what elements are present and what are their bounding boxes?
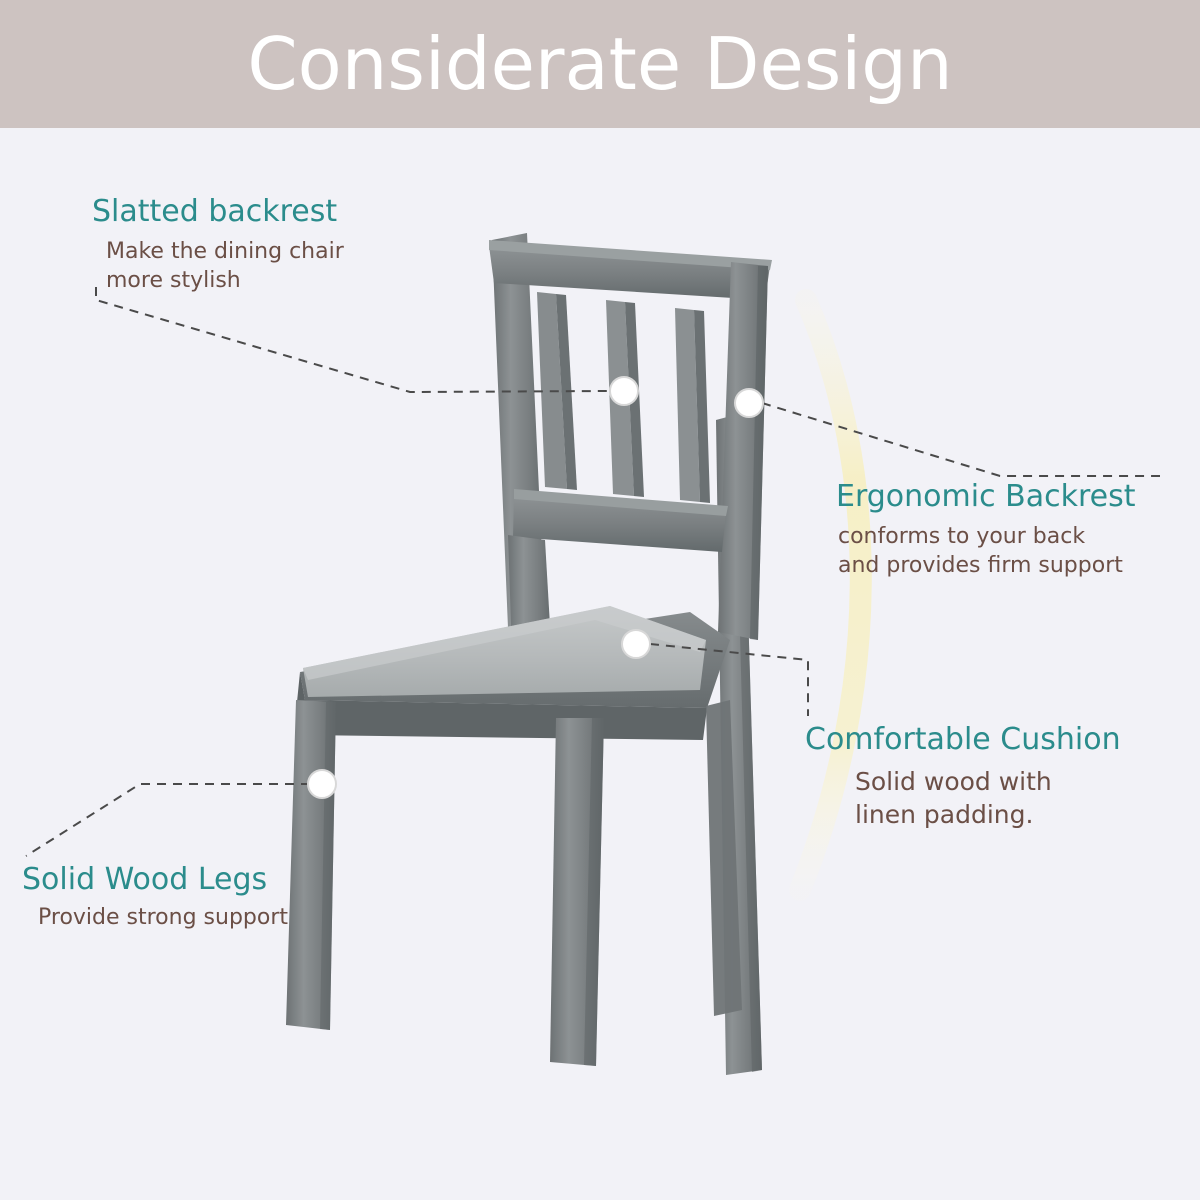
callout-body: Provide strong support [38, 903, 288, 932]
page-title: Considerate Design [0, 14, 1200, 114]
marker-slatted-backrest[interactable] [610, 377, 638, 405]
callout-body-line1: conforms to your back [838, 522, 1135, 551]
callout-body-line2: more stylish [106, 266, 344, 295]
product-illustration [0, 0, 1200, 1200]
leader-solid-wood-legs [26, 784, 310, 856]
chair-graphic [286, 233, 772, 1075]
callout-slatted-backrest: Slatted backrest Make the dining chair m… [92, 193, 344, 295]
callout-body-line2: and provides firm support [838, 551, 1135, 580]
leader-ergonomic-backrest [762, 403, 1160, 476]
callout-body-line2: linen padding. [855, 798, 1121, 831]
header-banner: Considerate Design [0, 0, 1200, 128]
marker-solid-wood-legs[interactable] [308, 770, 336, 798]
callout-body-line1: Make the dining chair [106, 237, 344, 266]
callout-body-line1: Provide strong support [38, 903, 288, 932]
marker-ergonomic-backrest[interactable] [735, 389, 763, 417]
callout-body: Make the dining chair more stylish [106, 237, 344, 295]
callout-body: Solid wood with linen padding. [855, 765, 1121, 831]
callout-title: Slatted backrest [92, 193, 344, 231]
callout-body: conforms to your back and provides firm … [838, 522, 1135, 580]
marker-comfortable-cushion[interactable] [622, 630, 650, 658]
callout-title: Solid Wood Legs [22, 861, 288, 899]
callout-ergonomic-backrest: Ergonomic Backrest conforms to your back… [836, 478, 1135, 580]
callout-title: Ergonomic Backrest [836, 478, 1135, 516]
callout-solid-wood-legs: Solid Wood Legs Provide strong support [22, 861, 288, 932]
callout-comfortable-cushion: Comfortable Cushion Solid wood with line… [805, 721, 1121, 831]
diagram-canvas: Considerate Design Slatted backrest Make… [0, 0, 1200, 1200]
callout-title: Comfortable Cushion [805, 721, 1121, 759]
callout-body-line1: Solid wood with [855, 765, 1121, 798]
